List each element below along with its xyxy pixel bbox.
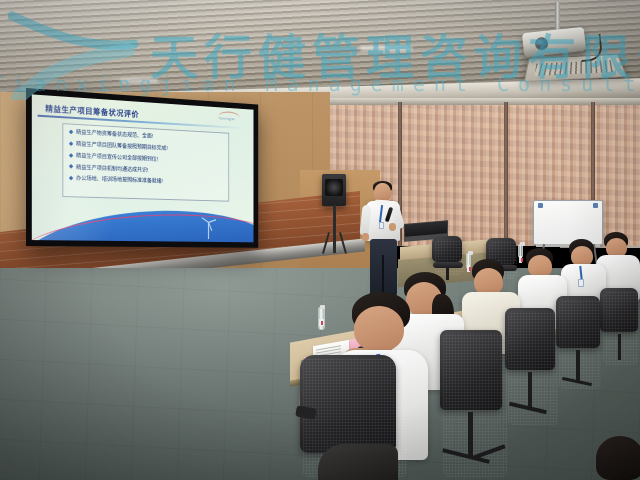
chair-back bbox=[432, 236, 462, 262]
diamond-bullet-icon: ◆ bbox=[69, 141, 73, 148]
chair-back bbox=[505, 308, 555, 370]
pa-speaker-icon bbox=[322, 174, 346, 206]
chair-back bbox=[300, 355, 396, 453]
diamond-bullet-icon: ◆ bbox=[69, 153, 73, 160]
slide-logo: Tianxingjian bbox=[218, 111, 249, 125]
slide-bullet-text: 办公场地、培训场地按照标准准备就绪! bbox=[76, 176, 163, 185]
meeting-room-photo: 精益生产项目筹备状况评价 Tianxingjian ◆ 精益生产物资筹备状态规范… bbox=[0, 0, 640, 480]
trouser-seam bbox=[382, 255, 384, 295]
bottle-label bbox=[319, 319, 324, 326]
whiteboard-clip-icon bbox=[538, 203, 543, 208]
slide-bullet-text: 精益生产项目机制均通达成共识! bbox=[76, 165, 148, 174]
slide-bullet-item: ◆ 精益生产项目宣传公司全部按期到位! bbox=[69, 153, 224, 166]
diamond-bullet-icon: ◆ bbox=[69, 164, 73, 171]
whiteboard-clip-icon bbox=[593, 203, 598, 208]
slide-bullet-item: ◆ 办公场地、培训场地按照标准准备就绪! bbox=[69, 176, 224, 188]
chair-stem bbox=[468, 412, 473, 458]
chair-back bbox=[556, 296, 600, 348]
ceiling-light bbox=[360, 46, 412, 51]
chair-back bbox=[440, 330, 502, 410]
projector-lens-icon bbox=[534, 37, 548, 51]
chair-stem bbox=[576, 350, 580, 382]
attendee-hair bbox=[596, 436, 640, 480]
audience-chair[interactable] bbox=[505, 308, 561, 428]
chair-mesh bbox=[559, 299, 601, 389]
attendee-foreground bbox=[596, 436, 640, 480]
slide-content-box: ◆ 精益生产物资筹备状态规范、全面! ◆ 精益生产项目团队筹备按照预期目标完成!… bbox=[62, 123, 229, 202]
presentation-slide: 精益生产项目筹备状况评价 Tianxingjian ◆ 精益生产物资筹备状态规范… bbox=[32, 94, 254, 242]
blind-rail bbox=[306, 98, 640, 105]
foreground-shoulder bbox=[318, 444, 398, 480]
bottle-cap bbox=[320, 305, 325, 309]
presenter-hand bbox=[362, 233, 369, 241]
attendee-head bbox=[354, 306, 404, 352]
attendee-badge bbox=[578, 279, 584, 287]
audience-chair[interactable] bbox=[600, 288, 640, 368]
water-bottle[interactable] bbox=[318, 307, 325, 330]
slide-bullet-text: 精益生产物资筹备状态规范、全面! bbox=[76, 130, 153, 140]
projection-screen[interactable]: 精益生产项目筹备状况评价 Tianxingjian ◆ 精益生产物资筹备状态规范… bbox=[26, 88, 258, 248]
slide-logo-text: Tianxingjian bbox=[218, 116, 249, 122]
windmill-icon bbox=[198, 215, 220, 239]
bottle-cap bbox=[468, 251, 473, 255]
projector-mount-rod bbox=[555, 2, 560, 32]
ac-vent-slats bbox=[535, 60, 616, 76]
slide-bullet-text: 精益生产项目宣传公司全部按期到位! bbox=[76, 153, 158, 163]
diamond-bullet-icon: ◆ bbox=[69, 129, 73, 136]
bottle-cap bbox=[520, 242, 525, 246]
diamond-bullet-icon: ◆ bbox=[69, 176, 73, 183]
presenter-badge bbox=[379, 222, 384, 229]
chair-mesh bbox=[603, 291, 639, 365]
presenter-hand bbox=[389, 223, 396, 231]
slide-bullet-text: 精益生产项目团队筹备按照预期目标完成! bbox=[76, 142, 168, 152]
window-mullion bbox=[504, 102, 508, 246]
slide-bullet-item: ◆ 精益生产项目机制均通达成共识! bbox=[69, 164, 224, 176]
chair-back bbox=[600, 288, 638, 332]
audience-chair[interactable] bbox=[440, 330, 510, 480]
ceiling-light bbox=[120, 78, 158, 83]
chair-stem bbox=[618, 334, 621, 360]
chair-mesh bbox=[435, 239, 463, 275]
audience-chair[interactable] bbox=[556, 296, 604, 392]
chair-stem bbox=[528, 372, 532, 410]
speaker-stand-pole bbox=[333, 205, 336, 253]
